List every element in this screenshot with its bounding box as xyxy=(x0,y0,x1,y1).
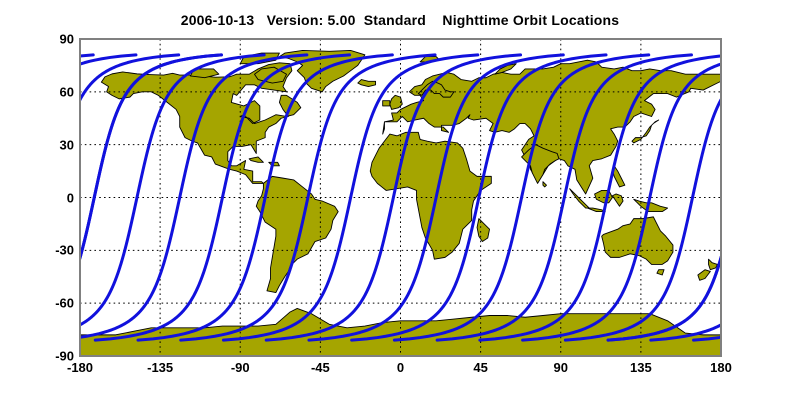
landmass-ireland xyxy=(383,101,390,106)
orbit-map-plot xyxy=(80,39,721,356)
y-tick-label: 0 xyxy=(28,190,74,205)
x-tick-label: -90 xyxy=(231,360,250,375)
x-tick-label: 45 xyxy=(473,360,487,375)
y-tick-label: -30 xyxy=(28,243,74,258)
y-tick-label: 90 xyxy=(28,32,74,47)
y-tick-label: 60 xyxy=(28,84,74,99)
x-tick-label: 135 xyxy=(630,360,652,375)
x-tick-label: 90 xyxy=(554,360,568,375)
page-title: 2006-10-13 Version: 5.00 Standard Nightt… xyxy=(0,12,800,28)
x-tick-label: 180 xyxy=(710,360,732,375)
y-tick-label: 30 xyxy=(28,137,74,152)
x-tick-label: -45 xyxy=(311,360,330,375)
x-tick-label: -135 xyxy=(147,360,173,375)
y-tick-label: -60 xyxy=(28,296,74,311)
x-tick-label: 0 xyxy=(397,360,404,375)
orbit-map-figure: 2006-10-13 Version: 5.00 Standard Nightt… xyxy=(0,0,800,400)
x-tick-label: -180 xyxy=(67,360,93,375)
